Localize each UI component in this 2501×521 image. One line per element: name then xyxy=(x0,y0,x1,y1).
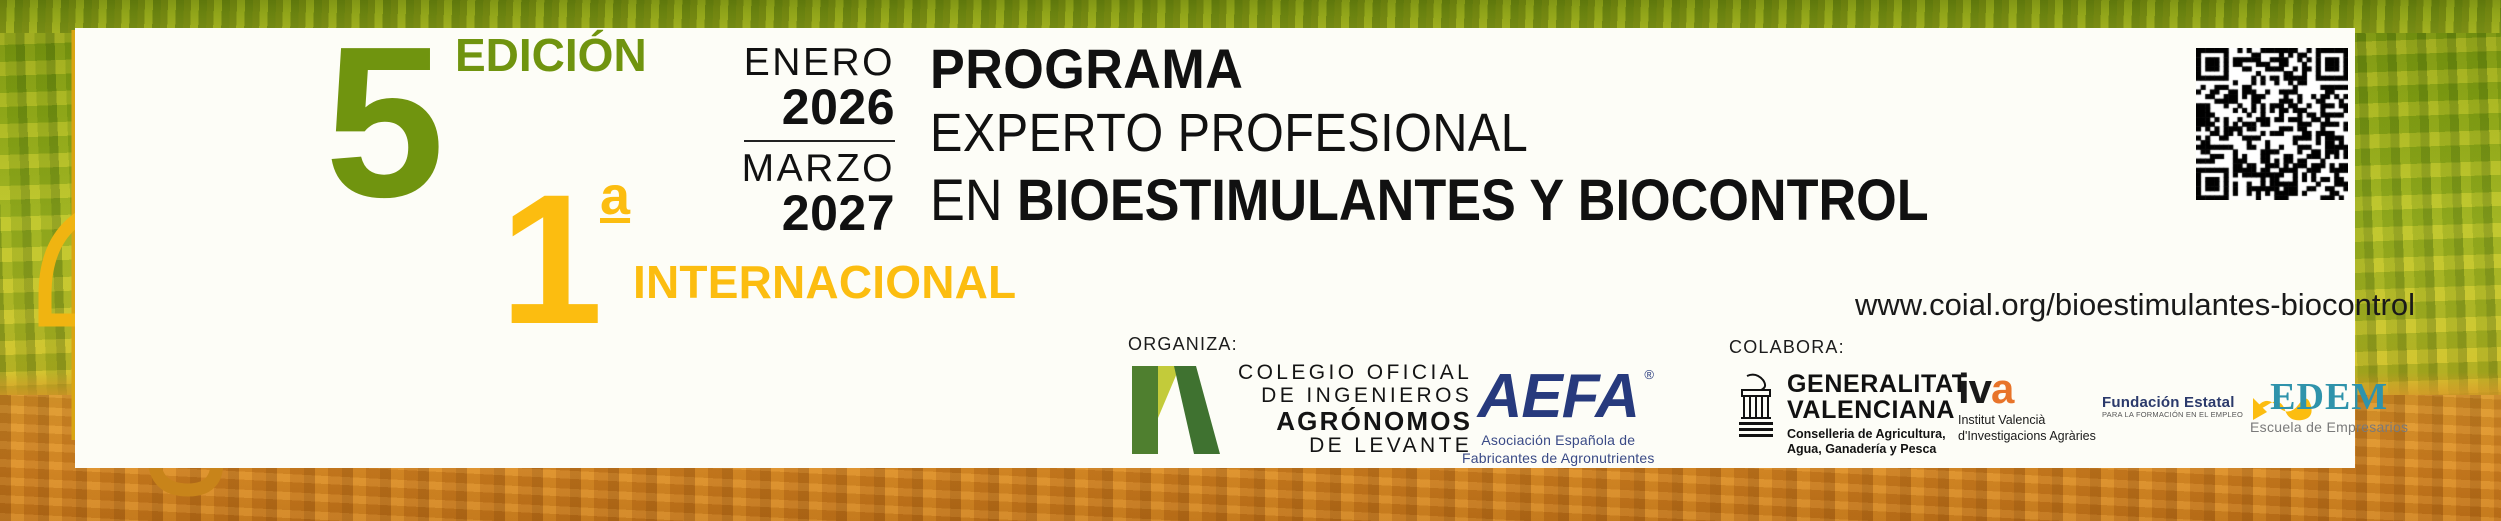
edem-logo: EDEM Escuela de Empresarios xyxy=(2250,378,2408,435)
end-year: 2027 xyxy=(740,187,895,240)
aefa-logo: AEFA ® Asociación Española de Fabricante… xyxy=(1462,366,1655,467)
title-line-bioestimulantes: EN BIOESTIMULANTES Y BIOCONTROL xyxy=(930,167,1929,235)
ivia-subtitle: Institut Valencià d'Investigacions Agràr… xyxy=(1958,413,2096,444)
title-line-programa: PROGRAMA xyxy=(930,38,1962,101)
international-label: INTERNACIONAL xyxy=(633,255,1016,309)
fundacion-line1: Fundación Estatal xyxy=(2102,395,2243,412)
edem-wordmark: EDEM xyxy=(2250,378,2408,416)
coial-text: COLEGIO OFICIAL DE INGENIEROS AGRÓNOMOS … xyxy=(1238,362,1472,458)
gva-subtitle: Conselleria de Agricultura, Agua, Ganade… xyxy=(1787,427,1968,458)
aefa-registered-icon: ® xyxy=(1644,368,1653,381)
gva-crest-icon xyxy=(1733,372,1779,440)
aefa-text: AEFA xyxy=(1478,362,1639,431)
gva-text: GENERALITAT VALENCIANA Conselleria de Ag… xyxy=(1787,372,1968,458)
international-ordinal: a xyxy=(600,165,630,227)
event-banner: 5 EDICIÓN 1 a INTERNACIONAL ENERO 2026 M… xyxy=(0,0,2501,521)
end-month: MARZO xyxy=(740,150,895,187)
coial-line1: COLEGIO OFICIAL xyxy=(1238,362,1472,385)
colabora-label: COLABORA: xyxy=(1729,337,1845,358)
ivia-iv: iv xyxy=(1958,365,1991,412)
coial-line3: AGRÓNOMOS xyxy=(1238,407,1472,435)
qr-code[interactable] xyxy=(2196,48,2348,200)
edition-number: 5 xyxy=(325,14,439,229)
ivia-sub-line1: Institut Valencià xyxy=(1958,413,2096,429)
ivia-wordmark: iva xyxy=(1958,368,2096,410)
start-year: 2026 xyxy=(740,81,895,134)
gva-line2: VALENCIANA xyxy=(1787,398,1968,424)
fundacion-text: Fundación Estatal PARA LA FORMACIÓN EN E… xyxy=(2102,395,2243,420)
international-number: 1 xyxy=(500,168,603,353)
ivia-sub-line2: d'Investigacions Agràries xyxy=(1958,429,2096,445)
title-preposition: EN xyxy=(930,168,1003,233)
aefa-wordmark: AEFA ® xyxy=(1478,366,1639,428)
program-title: PROGRAMA EXPERTO PROFESIONAL EN BIOESTIM… xyxy=(930,38,2040,235)
aefa-sub-line1: Asociación Española de xyxy=(1462,432,1655,450)
aefa-subtitle: Asociación Española de Fabricantes de Ag… xyxy=(1462,432,1655,467)
coial-logo: COLEGIO OFICIAL DE INGENIEROS AGRÓNOMOS … xyxy=(1128,362,1472,458)
ivia-a: a xyxy=(1991,365,2013,412)
organiza-label: ORGANIZA: xyxy=(1128,334,1238,355)
gva-line1: GENERALITAT xyxy=(1787,372,1968,398)
date-range: ENERO 2026 MARZO 2027 xyxy=(740,44,895,239)
fundacion-line2: PARA LA FORMACIÓN EN EL EMPLEO xyxy=(2102,411,2243,419)
date-divider xyxy=(744,140,895,142)
title-subject: BIOESTIMULANTES Y BIOCONTROL xyxy=(1017,168,1929,233)
title-line-experto: EXPERTO PROFESIONAL xyxy=(930,101,1929,167)
coial-line2: DE INGENIEROS xyxy=(1238,385,1472,408)
ivia-logo: iva Institut Valencià d'Investigacions A… xyxy=(1958,368,2096,444)
edition-label: EDICIÓN xyxy=(455,28,647,82)
coial-mark-icon xyxy=(1128,362,1224,458)
generalitat-valenciana-logo: GENERALITAT VALENCIANA Conselleria de Ag… xyxy=(1733,372,1968,458)
edem-subtitle: Escuela de Empresarios xyxy=(2250,419,2408,435)
coial-line4: DE LEVANTE xyxy=(1238,435,1472,458)
aefa-sub-line2: Fabricantes de Agronutrientes xyxy=(1462,450,1655,468)
gva-sub-line2: Agua, Ganadería y Pesca xyxy=(1787,442,1968,457)
gva-sub-line1: Conselleria de Agricultura, xyxy=(1787,427,1968,442)
start-month: ENERO xyxy=(740,44,895,81)
website-url[interactable]: www.coial.org/bioestimulantes-biocontrol xyxy=(1855,287,2415,323)
